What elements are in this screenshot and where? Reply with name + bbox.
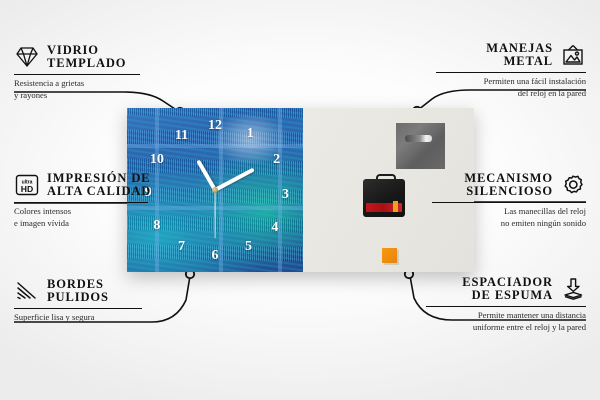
desc-line: Colores intensos [14, 206, 71, 216]
feature-hd-print: ultra HD IMPRESIÓN DE ALTA CALIDAD Color… [14, 172, 168, 229]
desc-line: Las manecillas del reloj [504, 206, 586, 216]
feature-desc: Las manecillas del reloj no emiten ningú… [422, 206, 586, 229]
clock-numeral: 3 [282, 187, 289, 203]
feature-title: ALTA CALIDAD [47, 185, 151, 198]
infographic-canvas: 12 1 2 3 4 5 6 7 8 9 10 11 [0, 0, 600, 400]
clock-numeral: 1 [247, 126, 254, 142]
foam-spacer [382, 248, 397, 263]
feature-title: SILENCIOSO [464, 185, 553, 198]
feature-polished-edges: BORDES PULIDOS Superficie lisa y segura [14, 278, 164, 324]
picture-hanger-icon [560, 43, 586, 67]
gear-icon [560, 173, 586, 197]
feature-metal-hooks: MANEJAS METAL Permiten una fácil instala… [426, 42, 586, 99]
clock-numeral: 11 [175, 128, 188, 144]
desc-line: no emiten ningún sonido [501, 218, 586, 228]
feature-desc: Resistencia a grietas y rayones [14, 78, 164, 101]
battery [366, 203, 402, 212]
clock-numeral: 5 [245, 239, 252, 255]
feature-title: MANEJAS [486, 42, 553, 55]
feature-title: VIDRIO [47, 44, 126, 57]
divider [436, 72, 586, 74]
desc-line: y rayones [14, 90, 47, 100]
feature-desc: Permiten una fácil instalación del reloj… [426, 76, 586, 99]
desc-line: Superficie lisa y segura [14, 312, 94, 322]
desc-line: uniforme entre el reloj y la pared [473, 322, 586, 332]
clock-numeral: 12 [208, 118, 222, 134]
desc-line: Resistencia a grietas [14, 78, 84, 88]
feature-foam-spacer: ESPACIADOR DE ESPUMA Permite mantener un… [418, 276, 586, 333]
metal-hanger-icon [396, 123, 445, 169]
divider [426, 306, 586, 308]
feature-title: IMPRESIÓN DE [47, 172, 151, 185]
desc-line: Permite mantener una distancia [478, 310, 586, 320]
clock-numeral: 6 [212, 248, 219, 264]
feature-title: DE ESPUMA [462, 289, 553, 302]
divider [14, 202, 148, 204]
diamond-icon [14, 45, 40, 69]
divider [14, 74, 140, 76]
desc-line: del reloj en la pared [518, 88, 586, 98]
feature-title: BORDES [47, 278, 109, 291]
ultra-hd-icon: ultra HD [14, 173, 40, 197]
clock-mechanism [363, 174, 405, 217]
feature-desc: Colores intensos e imagen vívida [14, 206, 168, 229]
divider [14, 308, 142, 310]
feature-silent-mechanism: MECANISMO SILENCIOSO Las manecillas del … [422, 172, 586, 229]
desc-line: Permiten una fácil instalación [484, 76, 586, 86]
hands-pin [212, 187, 218, 193]
feature-title: ESPACIADOR [462, 276, 553, 289]
feature-desc: Superficie lisa y segura [14, 312, 164, 324]
clock-numeral: 2 [273, 152, 280, 168]
divider [432, 202, 586, 204]
feature-title: TEMPLADO [47, 57, 126, 70]
desc-line: e imagen vívida [14, 218, 69, 228]
feature-title: METAL [486, 55, 553, 68]
polished-edges-icon [14, 279, 40, 303]
clock-numeral: 4 [271, 220, 278, 236]
svg-text:HD: HD [21, 184, 33, 194]
second-hand [214, 190, 215, 238]
foam-spacer-icon [560, 277, 586, 301]
feature-title: MECANISMO [464, 172, 553, 185]
feature-tempered-glass: VIDRIO TEMPLADO Resistencia a grietas y … [14, 44, 164, 101]
feature-title: PULIDOS [47, 291, 109, 304]
feature-desc: Permite mantener una distancia uniforme … [418, 310, 586, 333]
clock-numeral: 10 [150, 152, 164, 168]
clock-numeral: 7 [178, 239, 185, 255]
